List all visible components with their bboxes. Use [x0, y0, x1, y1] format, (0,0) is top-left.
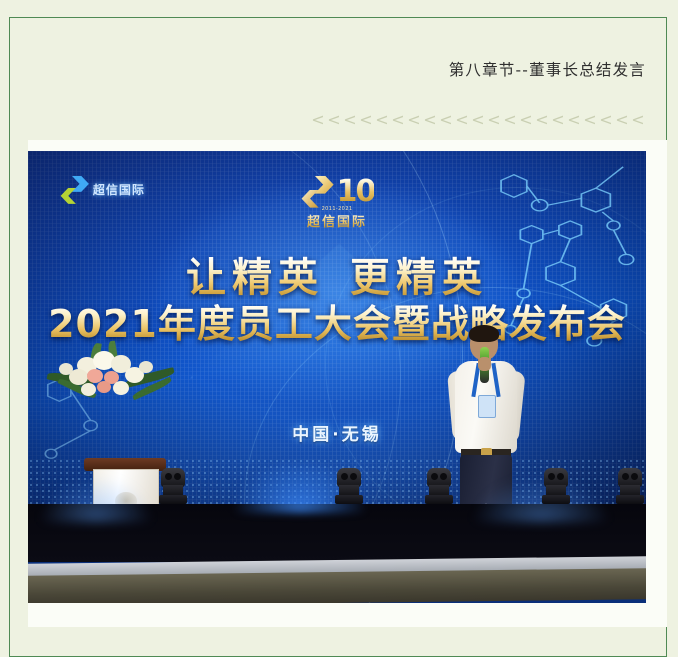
chevron-left-icon: < — [390, 109, 406, 131]
document-page: 第八章节--董事长总结发言 <<<<<<<<<<<<<<<<<<<<< — [0, 0, 678, 627]
chevron-left-icon: < — [566, 109, 582, 131]
chevron-left-icon: < — [438, 109, 454, 131]
chevron-left-icon: < — [550, 109, 566, 131]
speaker-hair — [469, 325, 499, 342]
chevron-left-icon: < — [406, 109, 422, 131]
chevron-left-icon: < — [630, 109, 646, 131]
corp-logo-text: 超信国际 — [93, 181, 145, 198]
speaker-hand — [478, 357, 491, 371]
chevron-left-icon: < — [454, 109, 470, 131]
headline-part-2: 更精英 — [350, 255, 488, 301]
backdrop-location: 中国·无锡 — [28, 420, 646, 445]
chevron-left-icon: < — [614, 109, 630, 131]
moving-head-light — [424, 468, 454, 504]
heading-row: 第八章节--董事长总结发言 — [28, 58, 646, 80]
backdrop-headline: 让精英更精英 — [28, 255, 646, 301]
anniversary-number: 10 — [337, 177, 375, 207]
chevron-divider: <<<<<<<<<<<<<<<<<<<<< — [28, 109, 646, 133]
chevron-left-icon: < — [598, 109, 614, 131]
moving-head-light — [541, 468, 571, 504]
moving-head-light — [334, 468, 364, 504]
page-title: 第八章节--董事长总结发言 — [449, 58, 646, 80]
chevron-left-icon: < — [326, 109, 342, 131]
corp-logo-top-left: 超信国际 — [59, 176, 145, 204]
conference-stage-photo: 超信国际 10 2011-2021 超信国际 让精英更精英 2021年度员工大会… — [28, 151, 646, 603]
anniversary-company-name: 超信国际 — [262, 211, 412, 230]
speaker-badge — [478, 395, 496, 418]
moving-head-light — [158, 468, 188, 504]
floor-glow-left — [40, 476, 151, 521]
chevron-left-icon: < — [582, 109, 598, 131]
moving-head-light — [615, 468, 645, 504]
anniversary-logo: 10 2011-2021 超信国际 — [262, 174, 412, 230]
chevron-left-icon: < — [502, 109, 518, 131]
chevron-left-icon: < — [342, 109, 358, 131]
chevron-left-icon: < — [486, 109, 502, 131]
backdrop-subtitle: 2021年度员工大会暨战略发布会 — [28, 302, 646, 346]
chevron-left-icon: < — [470, 109, 486, 131]
chevron-left-icon: < — [358, 109, 374, 131]
chevron-left-icon: < — [518, 109, 534, 131]
anniversary-chevron-icon — [300, 176, 334, 208]
chevron-left-icon: < — [374, 109, 390, 131]
chevron-left-icon: < — [534, 109, 550, 131]
stage-apron — [28, 568, 646, 603]
chevron-left-icon: < — [310, 109, 326, 131]
headline-part-1: 让精英 — [186, 255, 324, 301]
anniversary-years: 2011-2021 — [322, 206, 353, 212]
corp-logo-mark-icon — [59, 176, 89, 204]
anniversary-logo-row: 10 2011-2021 — [262, 174, 412, 210]
floral-arrangement — [47, 341, 177, 411]
chevron-left-icon: < — [422, 109, 438, 131]
